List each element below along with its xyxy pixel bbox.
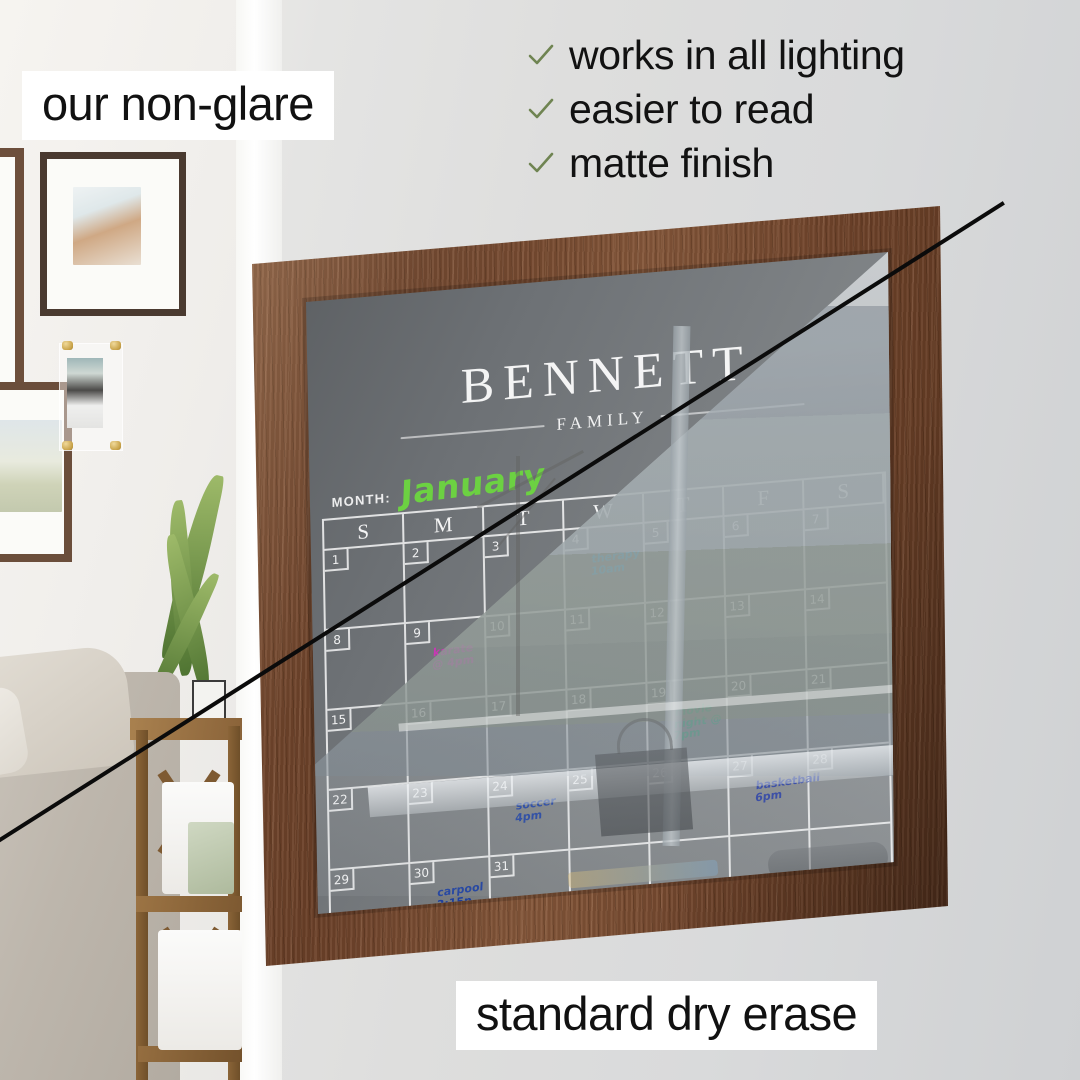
top-label-non-glare: our non-glare	[22, 71, 334, 140]
calendar-day-cell[interactable]: 17	[487, 691, 568, 778]
calendar-face: BENNETT FAMILY MONTH: January SMTWTFS123…	[306, 252, 906, 962]
calendar-day-cell[interactable]: 3	[485, 531, 566, 618]
board-artwork-clip: BENNETT FAMILY MONTH: January SMTWTFS123…	[248, 206, 958, 966]
green-storage-box	[188, 822, 234, 894]
day-number: 25	[569, 769, 593, 792]
brass-standoff-icon	[62, 441, 73, 450]
day-number: 17	[487, 695, 511, 718]
day-number: 19	[647, 682, 671, 705]
top-label-text: our non-glare	[42, 80, 314, 127]
product-marketing-image: BENNETT FAMILY MONTH: January SMTWTFS123…	[0, 0, 1080, 1080]
calendar-day-cell[interactable]: 21	[807, 663, 888, 750]
day-number: 31	[490, 855, 514, 878]
day-number: 24	[489, 775, 513, 798]
day-number: 4	[565, 529, 589, 552]
feature-bullet: easier to read	[527, 82, 1075, 136]
wedding-photo	[67, 358, 103, 428]
woven-basket	[158, 930, 242, 1050]
calendar-day-cell[interactable]: 14	[806, 583, 887, 670]
calendar-day-cell[interactable]: 28	[809, 743, 890, 830]
day-number: 30	[410, 862, 434, 885]
check-icon	[527, 95, 555, 123]
calendar-day-cell[interactable]: 27basketball6pm	[729, 750, 810, 837]
calendar-day-cell[interactable]: 9karate@ 4pm	[406, 617, 487, 704]
landscape-photo	[0, 420, 62, 512]
day-number: 27	[729, 755, 753, 778]
calendar-day-cell[interactable]: 13	[726, 590, 807, 677]
calendar-day-cell[interactable]: 23	[409, 777, 490, 864]
feature-bullet-text: works in all lighting	[569, 35, 905, 76]
calendar-day-cell[interactable]: 18	[567, 684, 648, 771]
day-number: 7	[805, 508, 829, 531]
calendar-day-cell[interactable]: 7	[805, 503, 886, 590]
day-number: 29	[330, 869, 354, 892]
day-number: 20	[727, 675, 751, 698]
day-number: 9	[406, 622, 430, 645]
day-number: 15	[327, 709, 351, 732]
calendar-day-cell[interactable]: 19movienight @ 7pm	[647, 677, 728, 764]
calendar-day-cell[interactable]: 12	[646, 597, 727, 684]
brass-standoff-icon	[62, 341, 73, 350]
check-icon	[527, 149, 555, 177]
feature-bullet-list: works in all lightingeasier to readmatte…	[527, 28, 1075, 190]
calendar-day-cell[interactable]: 2	[405, 537, 486, 624]
day-number: 10	[486, 615, 510, 638]
calendar-day-cell[interactable]: 5	[645, 517, 726, 604]
day-number: 6	[725, 515, 749, 538]
acrylic-float-frame	[59, 343, 123, 451]
calendar-day-cell[interactable]: 4therapy10am	[565, 524, 646, 611]
bottom-label-text: standard dry erase	[476, 990, 857, 1037]
bottom-label-standard: standard dry erase	[456, 981, 877, 1050]
day-number: 2	[405, 542, 429, 565]
feature-bullet-text: easier to read	[569, 89, 814, 130]
framed-calendar-board[interactable]: BENNETT FAMILY MONTH: January SMTWTFS123…	[248, 206, 958, 966]
title-rule-left	[401, 425, 545, 439]
feature-bullet: matte finish	[527, 136, 1075, 190]
day-number: 3	[485, 535, 509, 558]
day-number: 12	[646, 602, 670, 625]
calendar-day-cell[interactable]: 20	[727, 670, 808, 757]
calendar-day-cell[interactable]: 26	[649, 757, 730, 844]
day-number: 16	[407, 702, 431, 725]
brass-standoff-icon	[110, 341, 121, 350]
calendar-day-cell[interactable]: 8	[326, 624, 407, 711]
gallery-frame-baby-photo	[40, 152, 186, 316]
day-number: 28	[809, 748, 833, 771]
calendar-day-cell[interactable]: 16	[407, 697, 488, 784]
calendar-day-cell[interactable]: 10	[486, 611, 567, 698]
day-number: 5	[645, 522, 669, 545]
calendar-day-cell[interactable]: 24soccer4pm	[489, 771, 570, 858]
feature-bullet-text: matte finish	[569, 143, 774, 184]
day-number: 18	[567, 689, 591, 712]
day-number: 14	[806, 588, 830, 611]
calendar-day-cell[interactable]: 11	[566, 604, 647, 691]
calendar-day-cell[interactable]: 6	[725, 510, 806, 597]
baby-photo	[73, 187, 141, 265]
month-label: MONTH:	[332, 490, 391, 510]
day-number: 22	[329, 789, 353, 812]
side-table-middle-shelf	[136, 896, 242, 912]
family-subtitle: FAMILY	[556, 407, 649, 435]
day-number: 23	[409, 782, 433, 805]
calendar-day-cell[interactable]: 22	[329, 784, 410, 871]
calendar-day-cell[interactable]: 25	[569, 764, 650, 851]
check-icon	[527, 41, 555, 69]
day-number: 11	[566, 609, 590, 632]
day-number: 26	[649, 762, 673, 785]
day-number: 1	[325, 549, 349, 572]
calendar-day-cell[interactable]: 15	[327, 704, 408, 791]
brass-standoff-icon	[110, 441, 121, 450]
day-number: 21	[807, 668, 831, 691]
feature-bullet: works in all lighting	[527, 28, 1075, 82]
day-number: 13	[726, 595, 750, 618]
